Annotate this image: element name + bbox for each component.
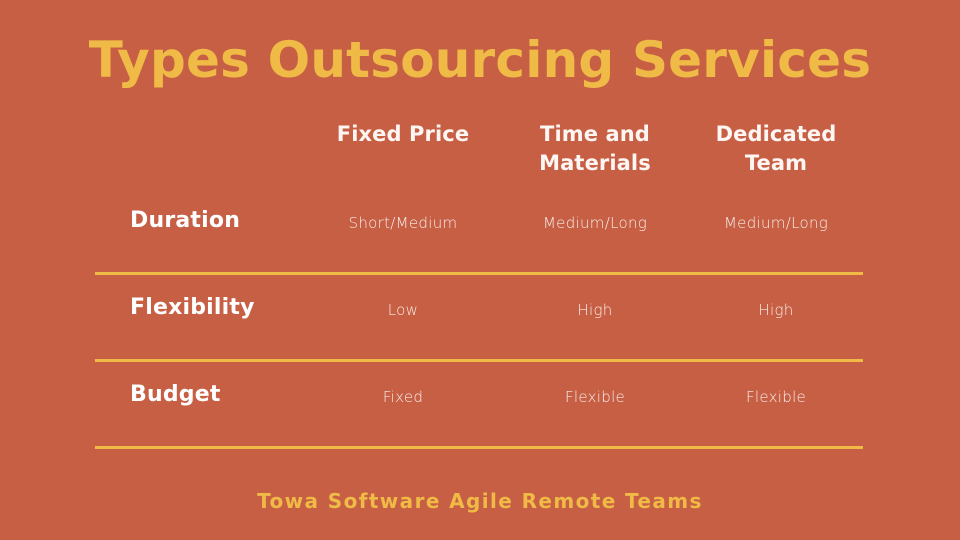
column-header-line-1: Dedicated bbox=[716, 122, 837, 146]
table-cell: Flexible bbox=[689, 362, 863, 408]
comparison-table: Fixed Price Time and Materials Dedicated… bbox=[95, 110, 863, 449]
table-cell: Low bbox=[305, 275, 501, 321]
slide-canvas: Types Outsourcing Services Fixed Price T… bbox=[0, 0, 960, 540]
table-cell: Medium/Long bbox=[501, 188, 689, 234]
column-header-fixed-price-text: Fixed Price bbox=[305, 110, 501, 149]
cell-value: Medium/Long bbox=[501, 188, 689, 234]
column-header-dedicated-team-text: Dedicated Team bbox=[689, 110, 863, 178]
cell-value: Fixed bbox=[305, 362, 501, 408]
table-cell: Fixed bbox=[305, 362, 501, 408]
table-cell: High bbox=[501, 275, 689, 321]
column-header-dedicated-team: Dedicated Team bbox=[689, 110, 863, 178]
table-corner-label bbox=[130, 110, 305, 120]
table-header-row: Fixed Price Time and Materials Dedicated… bbox=[95, 110, 863, 188]
column-header-fixed-price: Fixed Price bbox=[305, 110, 501, 149]
row-label-cell: Flexibility bbox=[95, 275, 305, 323]
column-header-time-and-materials: Time and Materials bbox=[501, 110, 689, 178]
cell-value: Flexible bbox=[689, 362, 863, 408]
page-title: Types Outsourcing Services bbox=[0, 30, 960, 90]
table-corner-cell bbox=[95, 110, 305, 120]
footer-branding: Towa Software Agile Remote Teams bbox=[0, 487, 960, 515]
cell-value: High bbox=[501, 275, 689, 321]
cell-value: Low bbox=[305, 275, 501, 321]
table-row: Flexibility Low High High bbox=[95, 275, 863, 359]
table-cell: Medium/Long bbox=[689, 188, 863, 234]
cell-value: Medium/Long bbox=[689, 188, 863, 234]
column-header-line-2: Team bbox=[745, 151, 807, 175]
column-header-time-and-materials-text: Time and Materials bbox=[501, 110, 689, 178]
table-cell: High bbox=[689, 275, 863, 321]
column-header-line-1: Fixed Price bbox=[337, 122, 469, 146]
row-label-cell: Budget bbox=[95, 362, 305, 410]
cell-value: Short/Medium bbox=[305, 188, 501, 234]
table-row: Budget Fixed Flexible Flexible bbox=[95, 362, 863, 446]
cell-value: Flexible bbox=[501, 362, 689, 408]
column-header-line-1: Time and bbox=[540, 122, 650, 146]
row-label-duration: Duration bbox=[130, 188, 305, 236]
row-label-budget: Budget bbox=[130, 362, 305, 410]
cell-value: High bbox=[689, 275, 863, 321]
column-header-line-2: Materials bbox=[539, 151, 651, 175]
row-label-flexibility: Flexibility bbox=[130, 275, 305, 323]
row-label-cell: Duration bbox=[95, 188, 305, 236]
table-cell: Flexible bbox=[501, 362, 689, 408]
row-divider bbox=[95, 446, 863, 449]
table-cell: Short/Medium bbox=[305, 188, 501, 234]
table-row: Duration Short/Medium Medium/Long Medium… bbox=[95, 188, 863, 272]
